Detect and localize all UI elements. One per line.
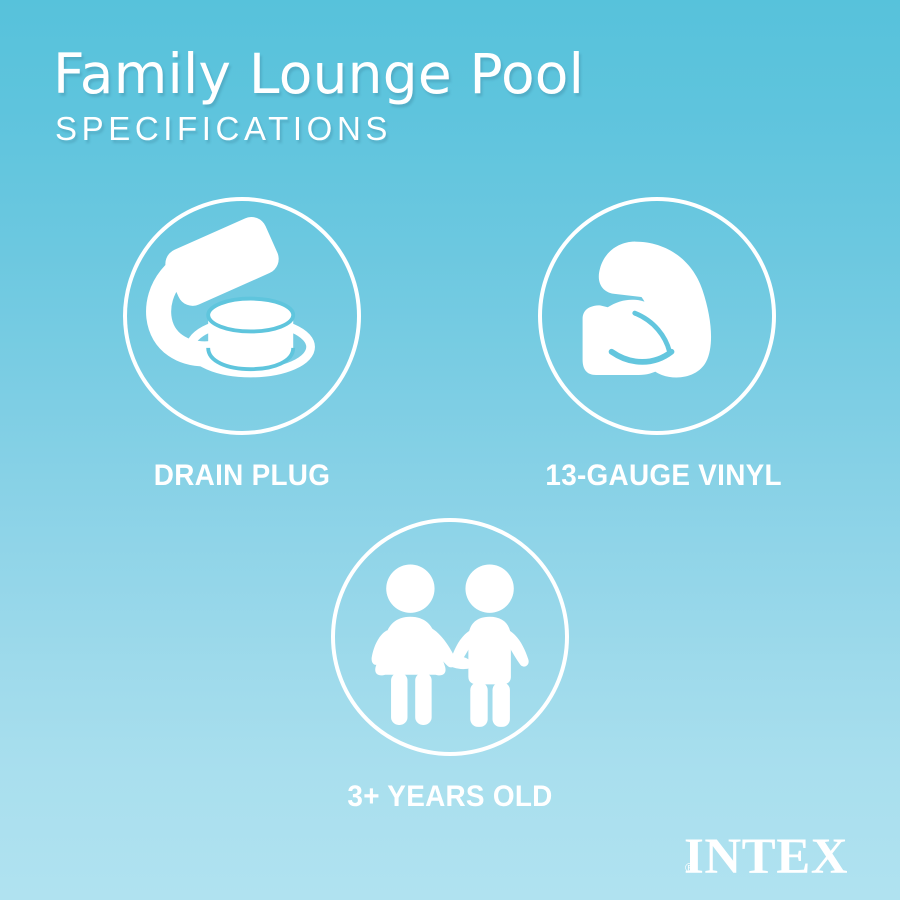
- page-title: Family Lounge Pool: [53, 44, 813, 104]
- page-subtitle: SPECIFICATIONS: [55, 110, 813, 148]
- feature-icon-circle: [123, 197, 361, 435]
- boy-torso: [468, 617, 511, 685]
- specifications-page: Family Lounge Pool SPECIFICATIONS DRAIN: [0, 0, 900, 900]
- feature-icon-circle: [331, 518, 569, 756]
- feature-vinyl: 13-GAUGE VINYL: [537, 197, 777, 493]
- brand-logo: INTEX®: [684, 833, 856, 881]
- feature-drain-plug: DRAIN PLUG: [122, 197, 362, 493]
- two-children-icon: [335, 522, 565, 752]
- drain-plug-icon: [127, 201, 357, 431]
- flexed-bicep-icon: [542, 201, 772, 431]
- feature-label-age: 3+ YEARS OLD: [338, 780, 561, 814]
- boy-head: [465, 565, 513, 613]
- feature-icon-circle: [538, 197, 776, 435]
- girl-head: [386, 565, 434, 613]
- page-header: Family Lounge Pool SPECIFICATIONS: [53, 44, 813, 148]
- feature-age: 3+ YEARS OLD: [330, 518, 570, 814]
- brand-name: INTEX: [684, 833, 848, 881]
- feature-label-vinyl: 13-GAUGE VINYL: [545, 459, 768, 493]
- registered-trademark-icon: ®: [685, 861, 695, 874]
- feature-label-drain-plug: DRAIN PLUG: [130, 459, 353, 493]
